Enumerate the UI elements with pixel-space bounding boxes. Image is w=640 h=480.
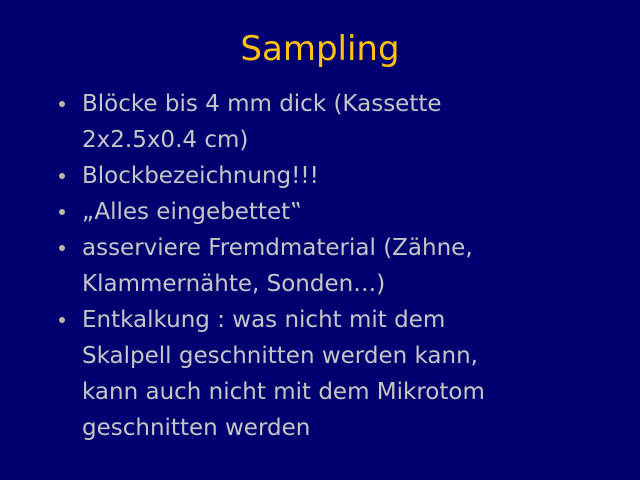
bullet-list: Blöcke bis 4 mm dick (Kassette 2x2.5x0.4…	[52, 86, 618, 446]
list-item-label: Blockbezeichnung!!!	[82, 158, 618, 194]
list-item: asserviere Fremdmaterial (Zähne, Klammer…	[52, 230, 618, 302]
list-item: Blöcke bis 4 mm dick (Kassette 2x2.5x0.4…	[52, 86, 618, 158]
list-item: Blockbezeichnung!!!	[52, 158, 618, 194]
list-item: Entkalkung : was nicht mit dem Skalpell …	[52, 302, 618, 446]
list-item-label: „Alles eingebettet‟	[82, 194, 618, 230]
disc-bullet-icon	[59, 173, 65, 179]
list-item-label: Entkalkung : was nicht mit dem Skalpell …	[82, 302, 618, 446]
disc-bullet-icon	[59, 101, 65, 107]
page-title: Sampling	[0, 29, 640, 69]
disc-bullet-icon	[59, 209, 65, 215]
disc-bullet-icon	[59, 245, 65, 251]
presentation-slide: Sampling Blöcke bis 4 mm dick (Kassette …	[0, 0, 640, 480]
disc-bullet-icon	[59, 317, 65, 323]
list-item-label: Blöcke bis 4 mm dick (Kassette 2x2.5x0.4…	[82, 86, 618, 158]
list-item-label: asserviere Fremdmaterial (Zähne, Klammer…	[82, 230, 618, 302]
list-item: „Alles eingebettet‟	[52, 194, 618, 230]
